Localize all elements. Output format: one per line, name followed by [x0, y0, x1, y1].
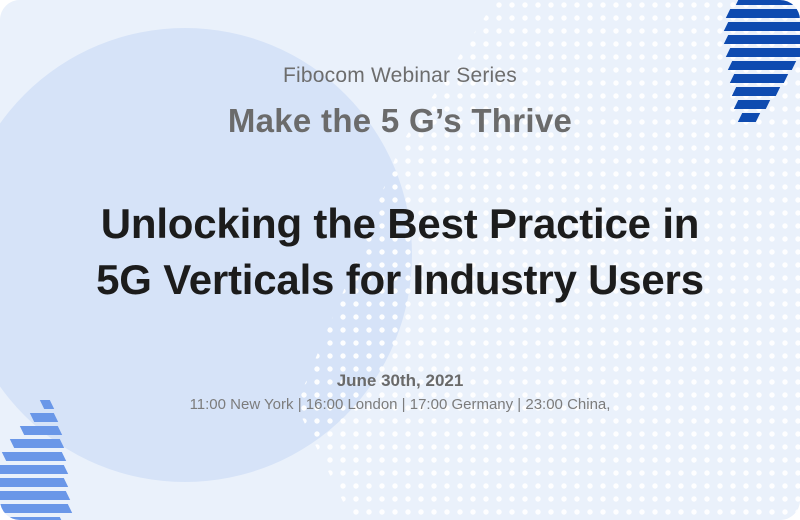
tagline: Make the 5 G’s Thrive: [0, 102, 800, 140]
event-date: June 30th, 2021: [0, 371, 800, 391]
event-timezones: 11:00 New York | 16:00 London | 17:00 Ge…: [0, 396, 800, 413]
webinar-banner: Fibocom Webinar Series Make the 5 G’s Th…: [0, 0, 800, 520]
title-line-1: Unlocking the Best Practice in: [0, 196, 800, 252]
series-label: Fibocom Webinar Series: [0, 64, 800, 88]
banner-content: Fibocom Webinar Series Make the 5 G’s Th…: [0, 0, 800, 520]
page-title: Unlocking the Best Practice in 5G Vertic…: [0, 196, 800, 308]
title-line-2: 5G Verticals for Industry Users: [0, 252, 800, 308]
